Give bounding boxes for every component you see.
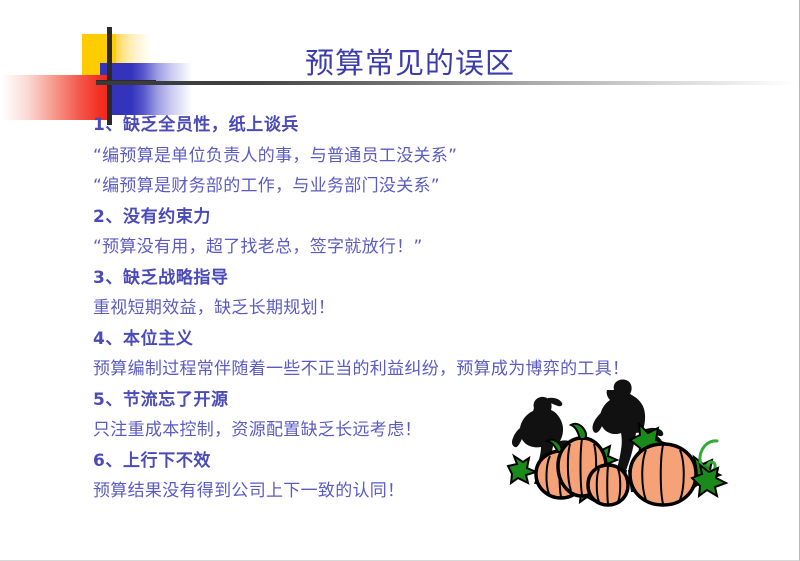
slide-canvas: 预算常见的误区 1、缺乏全员性，纸上谈兵 “编预算是单位负责人的事，与普通员工没… [0,0,800,561]
slide-title: 预算常见的误区 [150,46,670,80]
body-line: 重视短期效益，缺乏长期规划！ [93,293,743,324]
leaf-far-left [508,456,536,483]
body-line: “预算没有用，超了找老总，签字就放行！” [93,232,743,263]
body-line: “编预算是财务部的工作，与业务部门没关系” [93,171,743,202]
pumpkin-patch-clipart [490,378,742,518]
body-line: 3、缺乏战略指导 [93,263,743,294]
title-underline-rule [96,81,796,85]
body-line: 2、没有约束力 [93,202,743,233]
body-line: 1、缺乏全员性，纸上谈兵 [93,110,743,141]
body-line: “编预算是单位负责人的事，与普通员工没关系” [93,141,743,172]
pumpkin-large-right [630,444,696,505]
body-line: 4、本位主义 [93,324,743,355]
pumpkin-small-center [588,465,628,505]
